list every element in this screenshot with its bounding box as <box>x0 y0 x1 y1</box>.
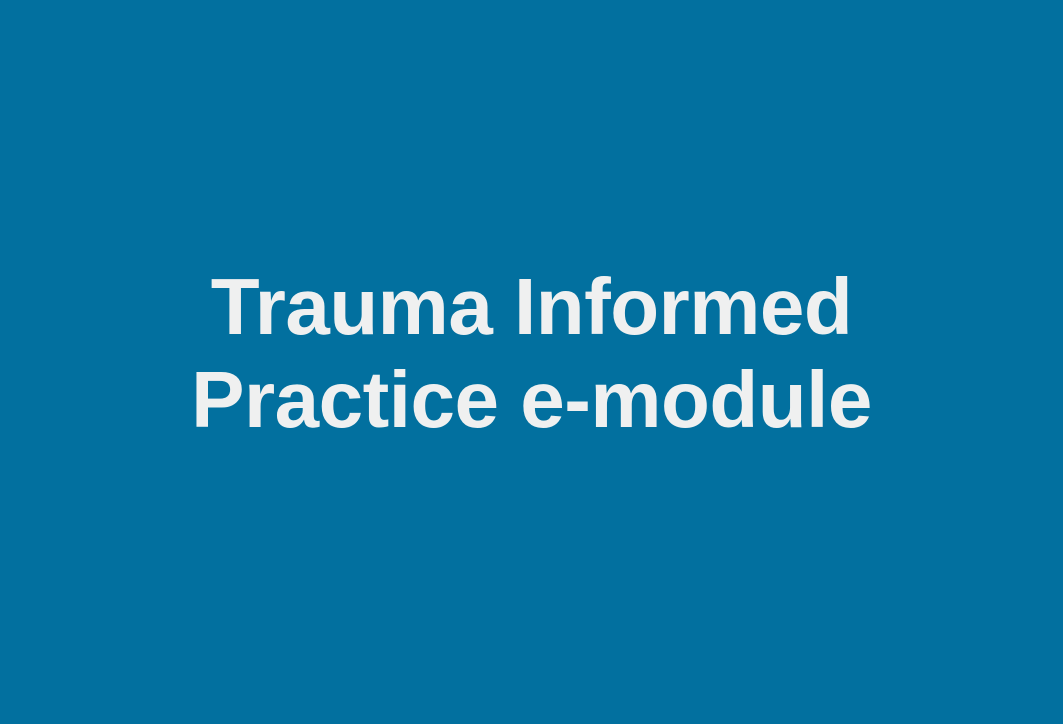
page-title-line-2: Practice e-module <box>40 353 1023 446</box>
title-slide: Trauma Informed Practice e-module <box>0 0 1063 724</box>
page-title-line-1: Trauma Informed <box>40 260 1023 353</box>
page-title: Trauma Informed Practice e-module <box>0 260 1063 446</box>
